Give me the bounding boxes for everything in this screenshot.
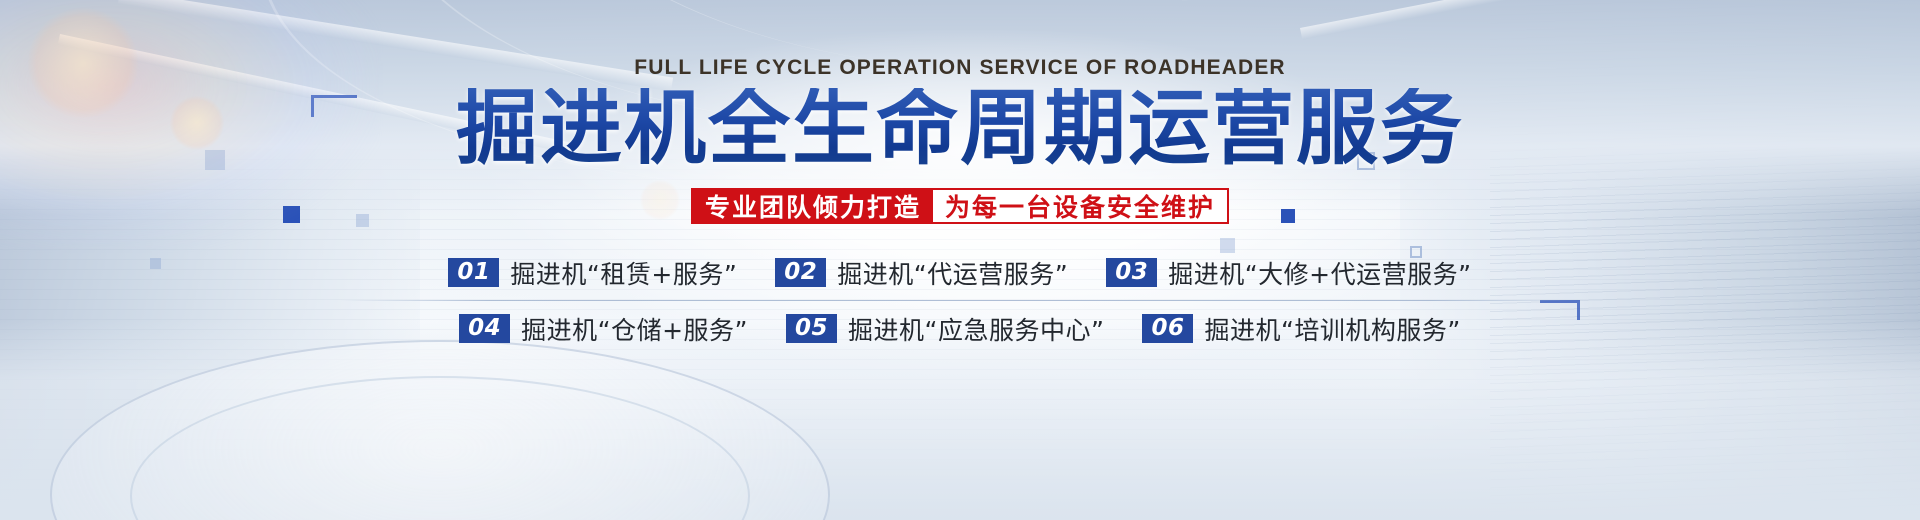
service-item-03[interactable]: 03 掘进机“大修+代运营服务” [1106,255,1471,291]
service-number-badge: 06 [1142,314,1193,344]
slogan-secondary: 为每一台设备安全维护 [933,190,1227,222]
service-item-02[interactable]: 02 掘进机“代运营服务” [775,255,1068,291]
service-label: 掘进机“代运营服务” [837,255,1068,291]
service-number-badge: 05 [786,314,837,344]
service-number-badge: 03 [1106,258,1157,288]
banner-content: FULL LIFE CYCLE OPERATION SERVICE OF ROA… [0,0,1920,520]
service-label: 掘进机“租赁+服务” [510,255,737,291]
service-number-badge: 01 [448,258,499,288]
service-item-06[interactable]: 06 掘进机“培训机构服务” [1142,311,1460,347]
service-label: 掘进机“应急服务中心” [848,311,1104,347]
service-item-05[interactable]: 05 掘进机“应急服务中心” [786,311,1104,347]
service-row-top: 01 掘进机“租赁+服务” 02 掘进机“代运营服务” 03 掘进机“大修+代运… [448,245,1471,300]
slogan-primary: 专业团队倾力打造 [693,190,933,222]
slogan-strip: 专业团队倾力打造 为每一台设备安全维护 [0,188,1920,224]
service-item-04[interactable]: 04 掘进机“仓储+服务” [459,311,748,347]
promo-banner: FULL LIFE CYCLE OPERATION SERVICE OF ROA… [0,0,1920,520]
banner-title-cn: 掘进机全生命周期运营服务 [0,88,1920,170]
service-label: 掘进机“仓储+服务” [521,311,748,347]
service-number-badge: 02 [775,258,826,288]
service-label: 掘进机“培训机构服务” [1204,311,1460,347]
service-label: 掘进机“大修+代运营服务” [1168,255,1471,291]
banner-eyebrow-en: FULL LIFE CYCLE OPERATION SERVICE OF ROA… [0,56,1920,80]
service-item-01[interactable]: 01 掘进机“租赁+服务” [448,255,737,291]
service-list: 01 掘进机“租赁+服务” 02 掘进机“代运营服务” 03 掘进机“大修+代运… [0,245,1920,356]
service-row-bottom: 04 掘进机“仓储+服务” 05 掘进机“应急服务中心” 06 掘进机“培训机构… [459,301,1461,356]
service-number-badge: 04 [459,314,510,344]
slogan-box: 专业团队倾力打造 为每一台设备安全维护 [691,188,1229,224]
